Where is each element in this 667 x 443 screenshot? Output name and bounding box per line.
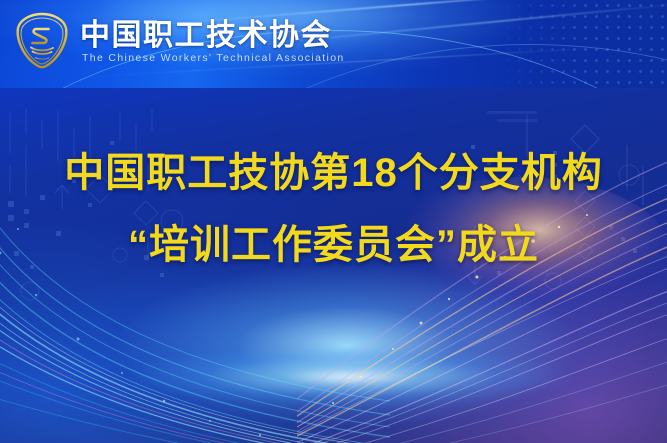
poster-banner: 中国职工技术协会 The Chinese Workers' Technical …	[0, 0, 667, 443]
main-title-line-2: “培训工作委员会”成立	[128, 212, 539, 270]
header-banner: 中国职工技术协会 The Chinese Workers' Technical …	[0, 0, 667, 88]
association-name-cn: 中国职工技术协会	[80, 20, 345, 52]
shield-monogram-logo-icon	[14, 10, 70, 72]
association-logo-block: 中国职工技术协会 The Chinese Workers' Technical …	[14, 10, 345, 72]
association-name-en: The Chinese Workers' Technical Associati…	[80, 53, 345, 65]
main-title-line-1: 中国职工技协第18个分支机构	[64, 140, 603, 198]
main-title-group: 中国职工技协第18个分支机构 “培训工作委员会”成立	[0, 140, 667, 270]
halftone-dot-pattern	[492, 0, 667, 88]
association-name-group: 中国职工技术协会 The Chinese Workers' Technical …	[80, 18, 345, 65]
